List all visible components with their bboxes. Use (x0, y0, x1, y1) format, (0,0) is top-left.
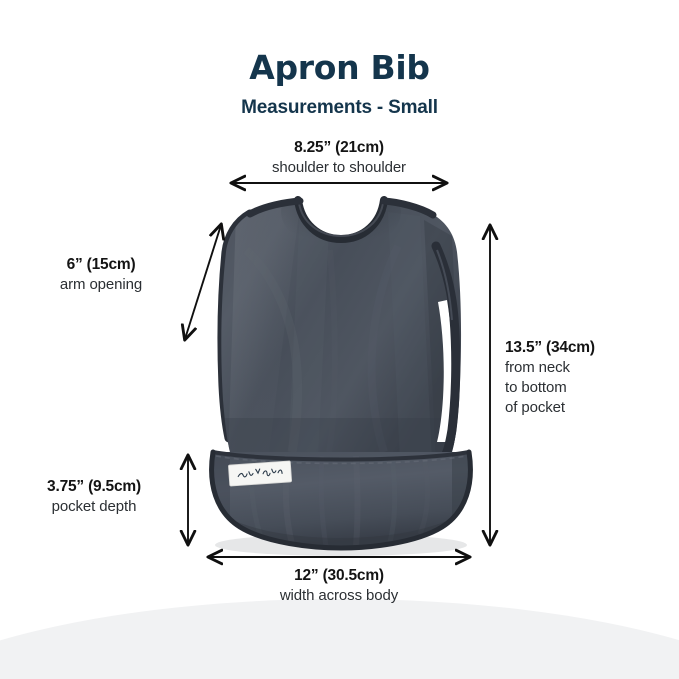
measurement-desc-shoulder: shoulder to shoulder (235, 158, 443, 178)
measurement-label-arm-opening: 6” (15cm) arm opening (22, 255, 180, 295)
measurement-label-shoulder: 8.25” (21cm) shoulder to shoulder (235, 138, 443, 178)
measurement-value-pocket-depth: 3.75” (9.5cm) (14, 477, 174, 497)
bib-body (210, 174, 470, 460)
measurement-desc-arm-opening: arm opening (22, 275, 180, 295)
measurement-value-arm-opening: 6” (15cm) (22, 255, 180, 275)
measurement-value-neck-to-pocket: 13.5” (34cm) (505, 338, 665, 358)
measurement-value-width-across-body: 12” (30.5cm) (235, 566, 443, 586)
measurement-diagram-page: Apron Bib Measurements - Small (0, 0, 679, 679)
measurement-desc-width-across-body: width across body (235, 586, 443, 606)
measurement-desc-pocket-depth: pocket depth (14, 497, 174, 517)
brand-label (228, 461, 291, 486)
measurement-label-pocket-depth: 3.75” (9.5cm) pocket depth (14, 477, 174, 517)
measurement-desc-neck-line2: to bottom (505, 378, 665, 398)
measurement-desc-neck-line1: from neck (505, 358, 665, 378)
measurement-desc-neck-line3: of pocket (505, 398, 665, 418)
measurement-value-shoulder: 8.25” (21cm) (235, 138, 443, 158)
measurement-label-neck-to-pocket: 13.5” (34cm) from neck to bottom of pock… (505, 338, 665, 418)
measurement-label-width-across-body: 12” (30.5cm) width across body (235, 566, 443, 606)
